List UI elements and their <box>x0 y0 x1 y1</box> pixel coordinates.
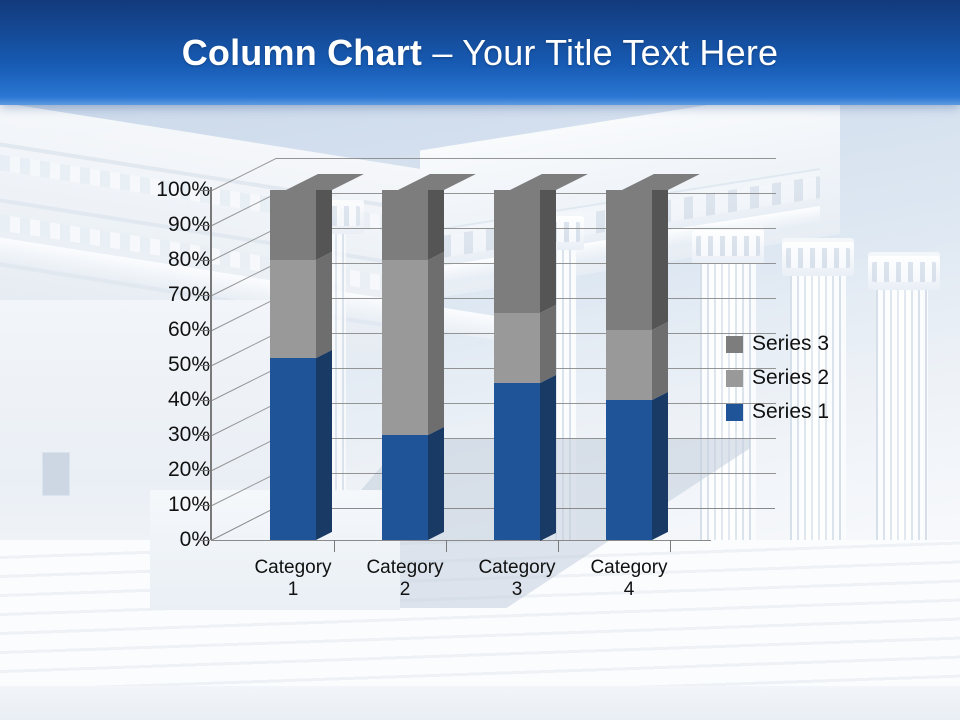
bar-segment-series-3[interactable] <box>382 190 428 260</box>
title-bold-part: Column Chart <box>182 32 433 73</box>
gridline-depth <box>212 438 276 471</box>
category-number: 1 <box>288 579 299 600</box>
bar-segment-front <box>270 260 316 358</box>
bar-segment-front <box>382 435 428 540</box>
y-axis-tick <box>198 330 210 331</box>
bar-segment-side <box>316 252 332 358</box>
bar-segment-front <box>494 190 540 313</box>
y-axis-tick <box>198 400 210 401</box>
bar-segment-side <box>428 252 444 435</box>
category-number: 2 <box>400 579 411 600</box>
bar-segment-series-1[interactable] <box>382 435 428 540</box>
x-axis-category-label: Category2 <box>350 557 460 601</box>
bar-segment-front <box>494 383 540 541</box>
y-axis-tick-label: 0% <box>90 529 210 550</box>
slide: Column Chart – Your Title Text Here 0%10… <box>0 0 960 720</box>
bar-segment-top <box>398 174 476 190</box>
bar-column[interactable] <box>270 105 316 540</box>
bar-segment-series-2[interactable] <box>606 330 652 400</box>
bar-segment-side <box>428 182 444 260</box>
legend-item-label: Series 2 <box>752 366 829 390</box>
bar-segment-series-3[interactable] <box>270 190 316 260</box>
gridline-depth <box>212 368 276 401</box>
y-axis-line <box>210 187 212 540</box>
gridline-depth <box>212 333 276 366</box>
x-axis-category-label: Category4 <box>574 557 684 601</box>
category-number: 4 <box>624 579 635 600</box>
y-axis-labels: 0%10%20%30%40%50%60%70%80%90%100% <box>0 105 210 525</box>
y-axis-tick-label: 70% <box>90 284 210 305</box>
floor-depth-line <box>211 507 276 541</box>
column-chart[interactable]: 0%10%20%30%40%50%60%70%80%90%100% Catego… <box>0 105 960 720</box>
bar-segment-series-3[interactable] <box>494 190 540 313</box>
title-banner: Column Chart – Your Title Text Here <box>0 0 960 105</box>
bar-segment-side <box>540 182 556 313</box>
chart-legend: Series 3Series 2Series 1 <box>726 327 906 429</box>
x-axis-tick <box>670 540 671 552</box>
bar-segment-series-3[interactable] <box>606 190 652 330</box>
legend-color-swatch <box>726 404 743 421</box>
bar-segment-series-2[interactable] <box>494 313 540 383</box>
x-axis-line <box>211 540 711 541</box>
category-word: Category <box>366 557 443 578</box>
x-axis-category-label: Category3 <box>462 557 572 601</box>
bar-segment-front <box>382 190 428 260</box>
bar-segment-series-1[interactable] <box>270 358 316 540</box>
bar-segment-side <box>428 427 444 540</box>
category-word: Category <box>478 557 555 578</box>
legend-item-series-3[interactable]: Series 3 <box>726 327 906 361</box>
bar-segment-front <box>606 330 652 400</box>
title-regular-part: – Your Title Text Here <box>432 32 778 73</box>
x-axis-tick <box>446 540 447 552</box>
y-axis-tick <box>198 260 210 261</box>
bar-segment-top <box>622 174 700 190</box>
gridline-depth <box>212 298 276 331</box>
bar-segment-front <box>606 400 652 540</box>
bar-segment-front <box>270 358 316 540</box>
y-axis-tick <box>198 225 210 226</box>
y-axis-tick-label: 30% <box>90 424 210 445</box>
bar-column[interactable] <box>382 105 428 540</box>
bar-segment-series-2[interactable] <box>270 260 316 358</box>
bar-segment-side <box>652 392 668 540</box>
bar-segment-side <box>652 182 668 330</box>
y-axis-tick-label: 80% <box>90 249 210 270</box>
bar-segment-front <box>382 260 428 435</box>
legend-item-series-1[interactable]: Series 1 <box>726 395 906 429</box>
legend-item-series-2[interactable]: Series 2 <box>726 361 906 395</box>
gridline-depth <box>212 263 276 296</box>
y-axis-tick-label: 50% <box>90 354 210 375</box>
bar-segment-front <box>494 313 540 383</box>
gridline-depth <box>212 473 276 506</box>
gridline-depth <box>212 403 276 436</box>
bar-segment-side <box>540 304 556 382</box>
bar-segment-front <box>606 190 652 330</box>
gridline-depth <box>212 228 276 261</box>
bar-segment-series-2[interactable] <box>382 260 428 435</box>
y-axis-tick-label: 100% <box>90 179 210 200</box>
bar-segment-side <box>316 350 332 540</box>
bar-segment-side <box>652 322 668 400</box>
legend-color-swatch <box>726 336 743 353</box>
bar-segment-series-1[interactable] <box>606 400 652 540</box>
legend-color-swatch <box>726 370 743 387</box>
page-title: Column Chart – Your Title Text Here <box>182 32 779 74</box>
bar-segment-side <box>540 374 556 540</box>
y-axis-tick-label: 10% <box>90 494 210 515</box>
bar-column[interactable] <box>494 105 540 540</box>
bar-segment-top <box>510 174 588 190</box>
y-axis-tick-label: 40% <box>90 389 210 410</box>
category-number: 3 <box>512 579 523 600</box>
y-axis-tick-label: 20% <box>90 459 210 480</box>
bar-segment-side <box>316 182 332 260</box>
legend-item-label: Series 3 <box>752 332 829 356</box>
bar-segment-top <box>286 174 364 190</box>
category-word: Category <box>254 557 331 578</box>
x-axis-tick <box>334 540 335 552</box>
bar-column[interactable] <box>606 105 652 540</box>
gridline-depth <box>212 193 276 226</box>
y-axis-tick-label: 60% <box>90 319 210 340</box>
bar-segment-front <box>270 190 316 260</box>
y-axis-tick-label: 90% <box>90 214 210 235</box>
legend-item-label: Series 1 <box>752 400 829 424</box>
y-axis-tick <box>198 295 210 296</box>
y-axis-tick <box>198 190 210 191</box>
x-axis-tick <box>558 540 559 552</box>
y-axis-tick <box>198 505 210 506</box>
y-axis-tick <box>198 365 210 366</box>
y-axis-tick <box>198 435 210 436</box>
x-axis-category-label: Category1 <box>238 557 348 601</box>
category-word: Category <box>590 557 667 578</box>
bar-segment-series-1[interactable] <box>494 383 540 541</box>
y-axis-tick <box>198 470 210 471</box>
gridline-depth <box>212 158 276 191</box>
y-axis-tick <box>198 540 210 541</box>
